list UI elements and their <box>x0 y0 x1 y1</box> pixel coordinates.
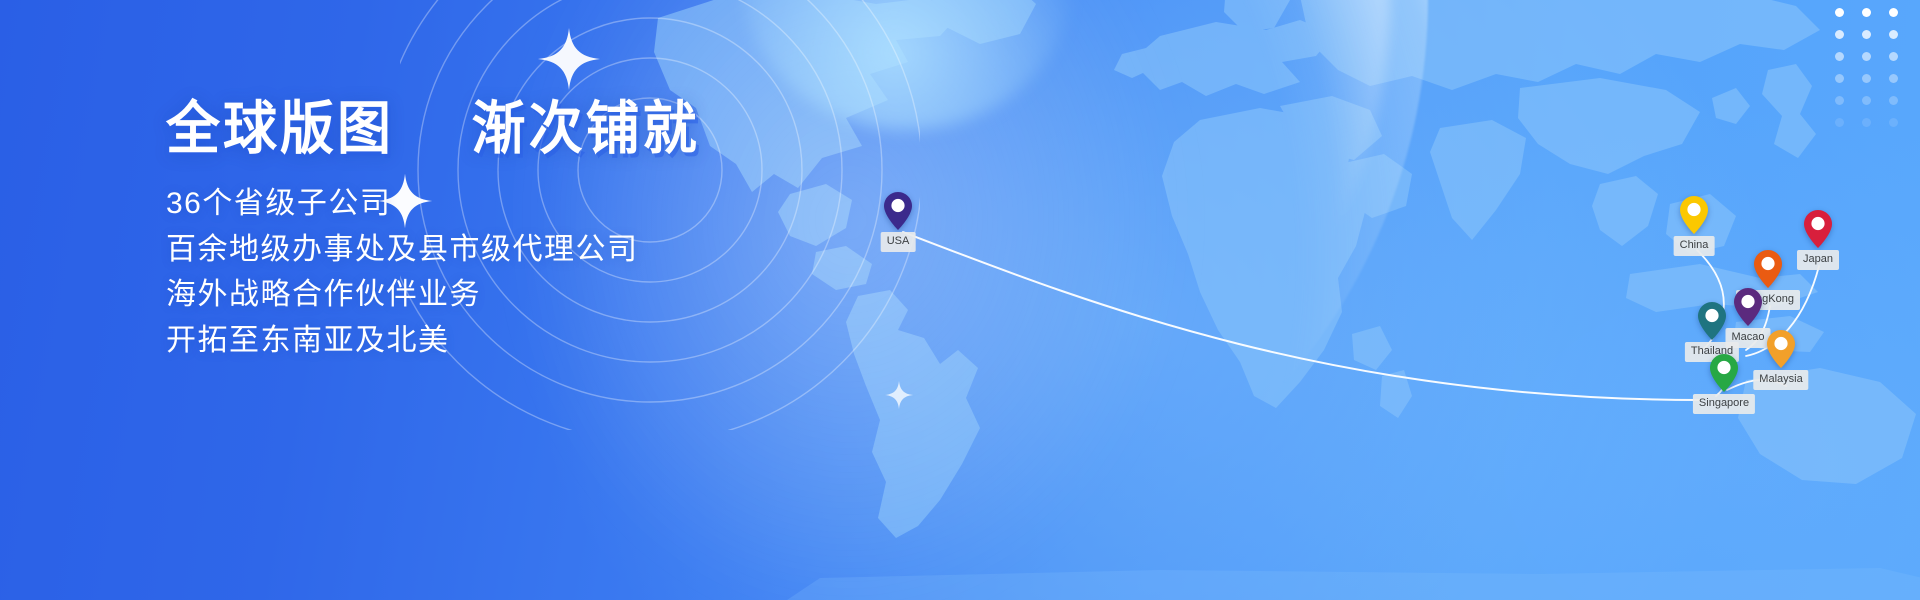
map-marker-thailand[interactable]: Thailand <box>1698 302 1726 340</box>
pin-icon-hongkong[interactable] <box>1754 250 1782 288</box>
map-marker-japan[interactable]: Japan <box>1804 210 1832 248</box>
pin-icon-thailand[interactable] <box>1698 302 1726 340</box>
map-marker-macao[interactable]: Macao <box>1734 288 1762 326</box>
subtitle-line-2: 百余地级办事处及县市级代理公司 <box>166 227 700 273</box>
subtitle-line-1: 36个省级子公司 <box>166 181 700 227</box>
map-marker-china[interactable]: China <box>1680 196 1708 234</box>
pin-icon-china[interactable] <box>1680 196 1708 234</box>
subtitle-line-3: 海外战略合作伙伴业务 <box>166 272 700 318</box>
map-marker-label-singapore: Singapore <box>1693 394 1755 414</box>
map-marker-usa[interactable]: USA <box>884 192 912 230</box>
headline-right: 渐次铺就 <box>472 95 700 162</box>
copy-block: 全球版图 渐次铺就 36个省级子公司 百余地级办事处及县市级代理公司 海外战略合… <box>166 98 700 364</box>
pin-icon-japan[interactable] <box>1804 210 1832 248</box>
map-marker-singapore[interactable]: Singapore <box>1710 354 1738 392</box>
map-marker-label-china: China <box>1674 236 1715 256</box>
map-marker-label-japan: Japan <box>1797 250 1839 270</box>
page-title: 全球版图 渐次铺就 <box>166 98 700 159</box>
pin-icon-macao[interactable] <box>1734 288 1762 326</box>
subtitle-line-4: 开拓至东南亚及北美 <box>166 318 700 364</box>
map-marker-label-malaysia: Malaysia <box>1753 370 1808 390</box>
map-marker-malaysia[interactable]: Malaysia <box>1767 330 1795 368</box>
subtitle-list: 36个省级子公司 百余地级办事处及县市级代理公司 海外战略合作伙伴业务 开拓至东… <box>166 181 700 363</box>
pin-icon-singapore[interactable] <box>1710 354 1738 392</box>
world-map <box>640 0 1920 600</box>
pin-icon-usa[interactable] <box>884 192 912 230</box>
headline-left: 全球版图 <box>166 95 394 162</box>
pin-icon-malaysia[interactable] <box>1767 330 1795 368</box>
map-marker-label-usa: USA <box>881 232 916 252</box>
map-marker-hongkong[interactable]: HongKong <box>1754 250 1782 288</box>
global-map-banner: 全球版图 渐次铺就 36个省级子公司 百余地级办事处及县市级代理公司 海外战略合… <box>0 0 1920 600</box>
sparkle-icon-top <box>536 26 602 92</box>
